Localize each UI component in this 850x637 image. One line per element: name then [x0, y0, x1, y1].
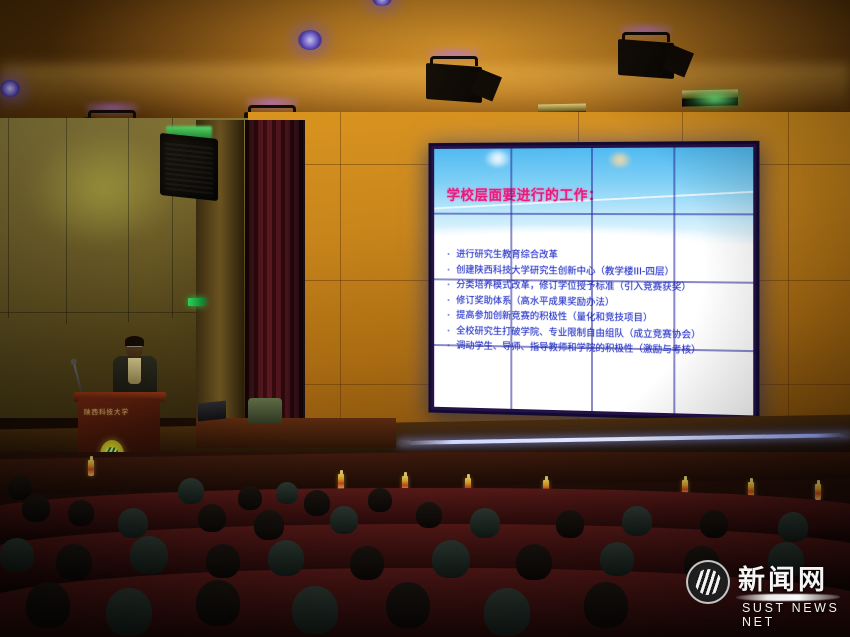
- audience-head: [268, 540, 304, 576]
- line-array-speaker: [160, 133, 218, 201]
- stage-curtain: [245, 120, 305, 420]
- audience-head: [206, 544, 240, 578]
- slide-bullet: 进行研究生教育综合改革: [447, 248, 746, 264]
- audience-head: [622, 506, 652, 536]
- audience-head: [700, 510, 728, 538]
- audience-head: [386, 582, 430, 628]
- audience-head: [178, 478, 204, 504]
- wall-panel-seam: [0, 312, 196, 313]
- audience-head: [118, 508, 148, 538]
- audience-head: [68, 500, 94, 526]
- presenter-table: [196, 418, 396, 448]
- screen-highlight: [609, 153, 631, 167]
- stage-chair: [248, 398, 282, 424]
- audience-head: [0, 538, 34, 572]
- audience-head: [416, 502, 442, 528]
- wall-panel-seam: [340, 112, 341, 430]
- screen-highlight: [485, 150, 510, 166]
- audience-head: [368, 488, 392, 512]
- wall-panel-seam: [788, 112, 789, 430]
- slide-bullet: 调动学生、导师、指导教师和学院的积极性（激励与考核）: [447, 339, 746, 358]
- presenter-person: [112, 338, 158, 400]
- presentation-slide: 学校层面要进行的工作： 进行研究生教育综合改革 创建陕西科技大学研究生创新中心（…: [431, 144, 756, 419]
- audience-head: [584, 582, 628, 628]
- wall-panel-seam: [128, 118, 129, 322]
- audience-head: [330, 506, 358, 534]
- presenter-shirt: [128, 358, 141, 384]
- video-wall-display[interactable]: 学校层面要进行的工作： 进行研究生教育综合改革 创建陕西科技大学研究生创新中心（…: [428, 141, 759, 422]
- audience-head: [432, 540, 470, 578]
- audience-head: [130, 536, 168, 574]
- audience-head: [484, 588, 530, 636]
- wall-panel-seam: [66, 118, 67, 324]
- audience-head: [304, 490, 330, 516]
- audience-head: [600, 542, 634, 576]
- recessed-downlight: [298, 30, 322, 50]
- speaker-grill: [165, 139, 213, 194]
- audience-head: [350, 546, 384, 580]
- slide-bullet: 创建陕西科技大学研究生创新中心（教学楼III-四层）: [447, 263, 746, 279]
- audience-head: [470, 508, 500, 538]
- audience-head: [56, 544, 92, 580]
- audience-head: [106, 588, 152, 636]
- audience-head: [556, 510, 584, 538]
- audience-head: [196, 580, 240, 626]
- glasses-icon: [127, 346, 142, 349]
- slide-bullet: 分类培养模式改革，修订学位授予标准（引入竞赛获奖）: [447, 278, 746, 295]
- audience-head: [254, 510, 284, 540]
- audience-head: [276, 482, 298, 504]
- laptop: [198, 401, 226, 422]
- green-wash-light: [686, 88, 744, 110]
- recessed-downlight: [0, 80, 20, 97]
- podium-institution-label: 陕西科技大学: [84, 406, 129, 416]
- wall-panel-seam: [8, 118, 9, 318]
- watermark-chinese-text: 新闻网: [738, 558, 828, 597]
- wall-light-glow: [24, 128, 174, 248]
- slide-bullet-list: 进行研究生教育综合改革 创建陕西科技大学研究生创新中心（教学楼III-四层） 分…: [447, 248, 746, 361]
- audience-head: [22, 494, 50, 522]
- watermark-brush-stroke: [736, 594, 840, 601]
- audience-head: [198, 504, 226, 532]
- exit-sign: [188, 298, 205, 306]
- water-bottle: [88, 460, 94, 476]
- watermark-english-text: SUST NEWS NET: [742, 601, 842, 629]
- news-watermark: 新闻网 SUST NEWS NET: [686, 556, 842, 618]
- audience-head: [292, 586, 338, 634]
- auditorium-photo: 学校层面要进行的工作： 进行研究生教育综合改革 创建陕西科技大学研究生创新中心（…: [0, 0, 850, 637]
- video-wall-screen: 学校层面要进行的工作： 进行研究生教育综合改革 创建陕西科技大学研究生创新中心（…: [431, 144, 756, 419]
- audience-head: [26, 582, 70, 628]
- water-bottle: [815, 484, 821, 500]
- audience-head: [516, 544, 552, 580]
- recessed-downlight: [372, 0, 392, 6]
- sust-seal-logo: [686, 560, 730, 604]
- slide-title: 学校层面要进行的工作：: [447, 185, 603, 205]
- audience-head: [778, 512, 808, 542]
- audience-head: [238, 486, 262, 510]
- presenter-hair: [125, 336, 144, 346]
